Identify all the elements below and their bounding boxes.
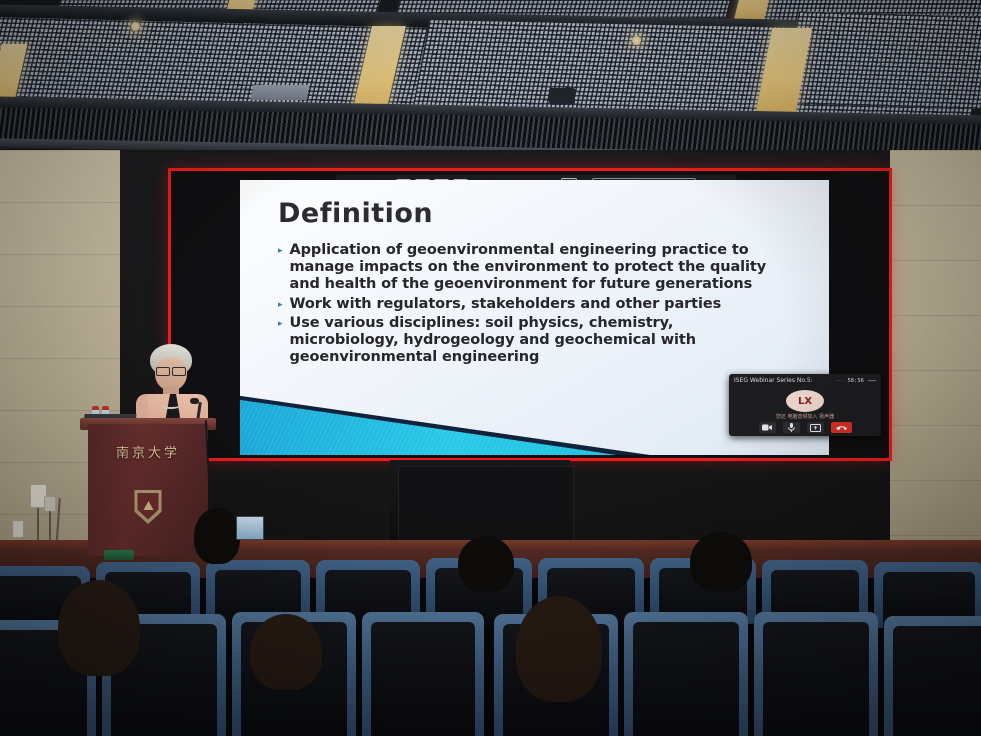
- share-screen-button[interactable]: [807, 422, 824, 433]
- attendee-head: [250, 614, 322, 690]
- call-more-options-icon[interactable]: ···: [836, 378, 844, 384]
- speaker-glasses: [155, 367, 187, 374]
- stage-equipment-box: [104, 550, 134, 560]
- wall-socket: [12, 520, 24, 538]
- slide-bullet-text: Work with regulators, stakeholders and o…: [290, 296, 722, 313]
- nanjing-university-crest-icon: [135, 490, 162, 524]
- hang-up-button[interactable]: [831, 422, 852, 433]
- teams-call-window[interactable]: ISEG Webinar Series No.5: ··· 58:56 — LX…: [729, 374, 881, 436]
- podium: 南京大学: [88, 424, 208, 556]
- podium-university-name: 南京大学: [88, 442, 208, 461]
- right-wall: [890, 150, 981, 570]
- attendee-head: [690, 532, 752, 592]
- ceiling-vent: [250, 85, 309, 100]
- ceiling-projector-mount: [549, 88, 575, 104]
- screen-share-region: 正在演示... 授予控制权 ··· 停止演示 🖈 Definition: [171, 171, 889, 458]
- slide-bullet-text: Use various disciplines: soil physics, c…: [290, 315, 786, 367]
- attendee-head: [458, 536, 514, 592]
- bullet-marker-icon: ▸: [278, 296, 283, 313]
- seat: [754, 612, 878, 736]
- minimize-icon[interactable]: —: [868, 379, 876, 383]
- attendee-head: [516, 596, 602, 702]
- microphone-toggle-button[interactable]: [783, 422, 800, 433]
- call-title: ISEG Webinar Series No.5:: [734, 377, 832, 384]
- attendee-head: [58, 580, 140, 676]
- seat: [884, 616, 981, 736]
- camera-toggle-button[interactable]: [759, 422, 776, 433]
- ceiling: [0, 0, 981, 152]
- slide-bullet-list: ▸ Application of geoenvironmental engine…: [278, 242, 798, 368]
- call-timer: 58:56: [847, 378, 864, 384]
- speaker-necklace: [161, 401, 181, 409]
- ceiling-spotlight: [632, 36, 641, 45]
- seat: [362, 612, 484, 736]
- wall-switch-box: [44, 496, 56, 512]
- bullet-marker-icon: ▸: [278, 242, 283, 259]
- slide-bullet-text: Application of geoenvironmental engineer…: [290, 242, 786, 294]
- projection-screen[interactable]: 正在演示... 授予控制权 ··· 停止演示 🖈 Definition: [168, 168, 892, 461]
- slide-title: Definition: [278, 198, 433, 229]
- slide-bullet: ▸ Use various disciplines: soil physics,…: [278, 315, 798, 367]
- call-window-header: ISEG Webinar Series No.5: ··· 58:56 —: [729, 374, 881, 387]
- lecture-hall-photo: 正在演示... 授予控制权 ··· 停止演示 🖈 Definition: [0, 0, 981, 736]
- ceiling-spotlight: [131, 22, 140, 31]
- seat: [624, 612, 748, 736]
- avatar: LX: [786, 390, 824, 412]
- avatar-initials: LX: [798, 396, 812, 407]
- call-audio-status-text: 您还 电脑音频加入 扬声器: [729, 413, 881, 420]
- slide-bullet: ▸ Application of geoenvironmental engine…: [278, 242, 798, 294]
- bullet-marker-icon: ▸: [278, 315, 283, 332]
- attendee-head: [194, 508, 240, 564]
- attendee-laptop: [236, 516, 264, 540]
- call-controls[interactable]: [729, 422, 881, 433]
- slide-bullet: ▸ Work with regulators, stakeholders and…: [278, 296, 798, 313]
- ceiling-panel: [783, 11, 981, 112]
